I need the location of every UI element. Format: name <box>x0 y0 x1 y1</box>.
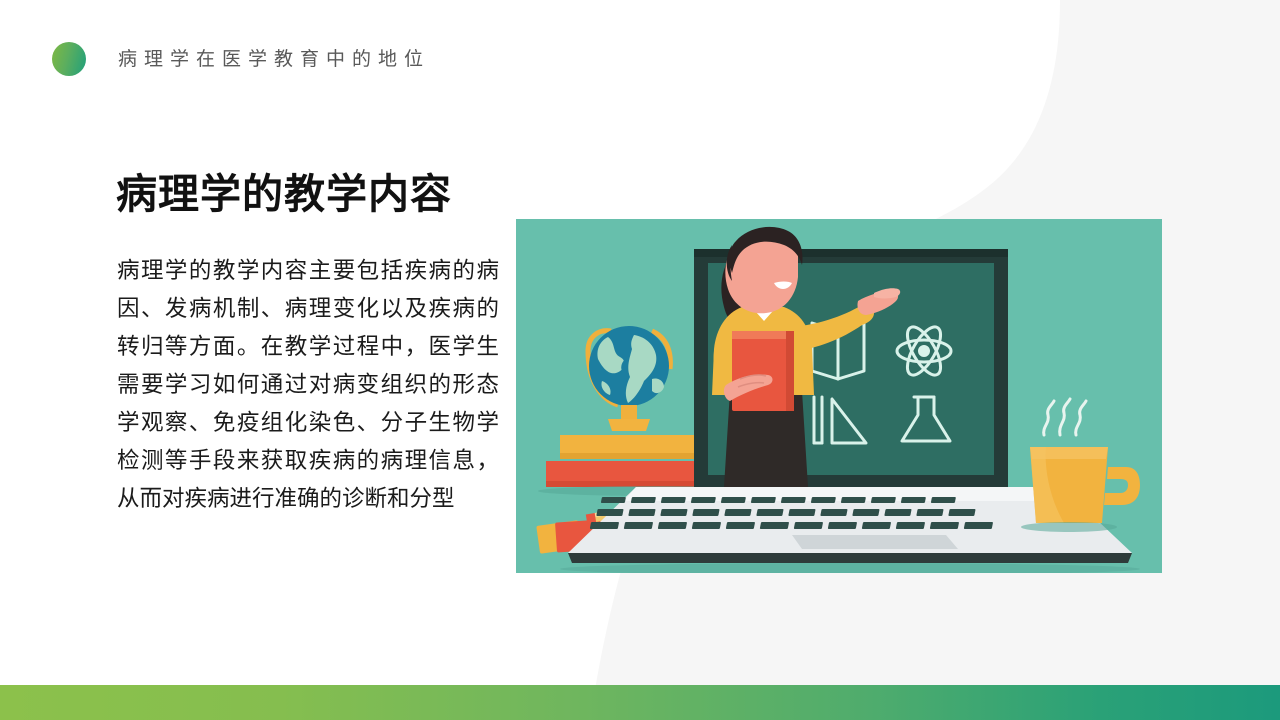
body-paragraph: 病理学的教学内容主要包括疾病的病因、发病机制、病理变化以及疾病的转归等方面。在教… <box>117 252 499 518</box>
online-teaching-illustration <box>516 219 1162 573</box>
slide-header: 病理学在医学教育中的地位 <box>0 0 1280 118</box>
header-title: 病理学在医学教育中的地位 <box>118 44 430 71</box>
brand-dot <box>52 42 86 76</box>
illustration-image <box>516 219 1162 573</box>
page-title: 病理学的教学内容 <box>116 160 452 220</box>
brand-dot-circle <box>52 42 86 76</box>
slide: 病理学在医学教育中的地位 病理学的教学内容 病理学的教学内容主要包括疾病的病因、… <box>0 0 1280 720</box>
footer-gradient-bar <box>0 685 1280 720</box>
laptop-trackpad <box>792 535 958 549</box>
